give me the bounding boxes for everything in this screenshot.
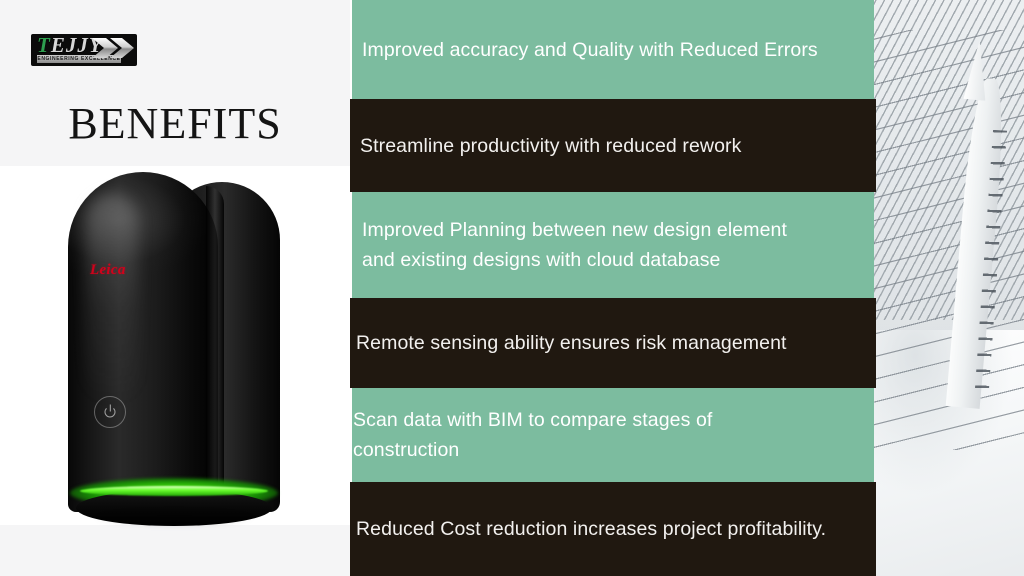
bridge-cables — [868, 30, 1024, 450]
benefit-panel-2[interactable]: Streamline productivity with reduced rew… — [350, 99, 876, 192]
benefit-panel-3-text: Improved Planning between new design ele… — [362, 215, 824, 275]
tejjy-logo[interactable]: TEJJY ENGINEERING EXCELLENCE — [31, 34, 137, 66]
benefit-panel-1-text: Improved accuracy and Quality with Reduc… — [362, 35, 818, 65]
scanner-base-shadow — [94, 512, 254, 526]
chevron-arrow-icon — [92, 37, 134, 59]
benefit-panel-6[interactable]: Reduced Cost reduction increases project… — [350, 482, 876, 576]
scanner-body: Leica — [68, 168, 280, 516]
benefit-panel-4-text: Remote sensing ability ensures risk mana… — [356, 328, 787, 358]
benefit-panel-2-text: Streamline productivity with reduced rew… — [360, 131, 741, 161]
benefit-panel-5-text: Scan data with BIM to compare stages of … — [353, 405, 814, 465]
power-icon — [105, 407, 116, 418]
benefit-panel-4[interactable]: Remote sensing ability ensures risk mana… — [350, 298, 876, 388]
power-button[interactable] — [94, 396, 126, 428]
leica-brand-mark: Leica — [90, 262, 126, 279]
page-title: BENEFITS — [0, 101, 350, 147]
leica-scanner-image: Leica — [68, 168, 280, 528]
scanner-highlight — [86, 194, 138, 404]
left-column: TEJJY ENGINEERING EXCELLENCE BENEFITS Le… — [0, 0, 350, 576]
benefit-panel-6-text: Reduced Cost reduction increases project… — [356, 514, 826, 544]
scanner-seam — [206, 186, 224, 508]
benefit-panel-1[interactable]: Improved accuracy and Quality with Reduc… — [352, 0, 874, 99]
benefit-panel-3[interactable]: Improved Planning between new design ele… — [352, 192, 874, 298]
cable-stayed-bridge-photo — [868, 0, 1024, 576]
logo-wordmark-lead: T — [37, 34, 51, 57]
benefit-panel-5[interactable]: Scan data with BIM to compare stages of … — [352, 388, 874, 482]
left-bottom-band — [0, 525, 350, 576]
scanner-led-ring-core — [80, 486, 268, 496]
